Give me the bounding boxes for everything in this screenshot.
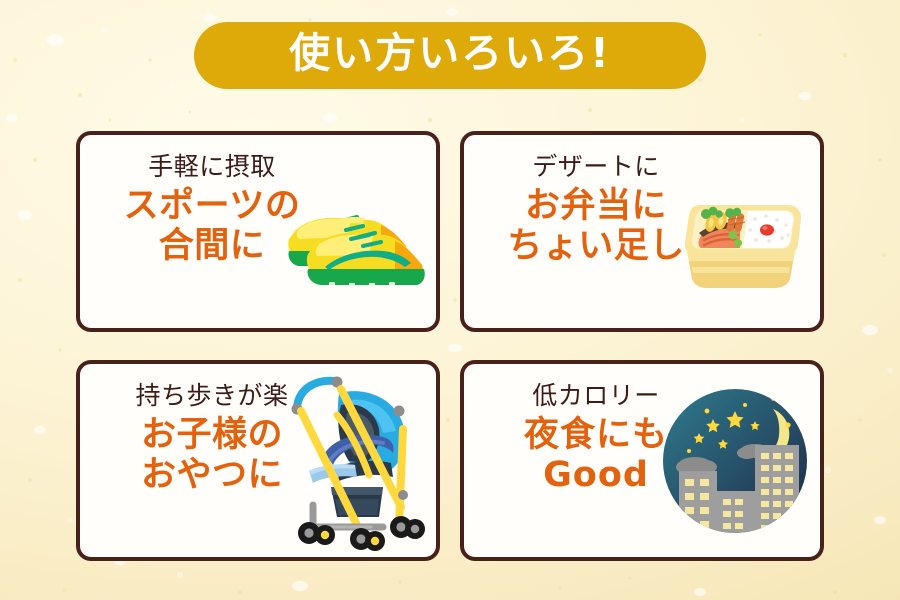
title-banner: 使い方いろいろ! [194, 22, 706, 89]
card-illustration [278, 135, 428, 328]
benefit-card-night: 低カロリー 夜食にも Good [460, 360, 824, 561]
card-illustration [274, 364, 434, 557]
page-title: 使い方いろいろ! [289, 33, 611, 74]
bento-box-icon [670, 183, 812, 295]
benefit-card-kids: 持ち歩きが楽 お子様の おやつに [76, 360, 440, 561]
benefit-card-sports: 手軽に摂取 スポーツの 合間に [76, 131, 440, 332]
benefit-card-grid: 手軽に摂取 スポーツの 合間に [76, 131, 824, 561]
stroller-icon [279, 375, 429, 547]
sneakers-icon [277, 187, 429, 295]
night-city-icon [661, 387, 809, 535]
card-illustration [660, 364, 810, 557]
benefit-card-bento: デザートに お弁当に ちょい足し [460, 131, 824, 332]
poster-canvas: 使い方いろいろ! 手軽に摂取 スポーツの 合間に [0, 0, 900, 600]
card-illustration [666, 135, 816, 328]
title-banner-wrapper: 使い方いろいろ! [0, 22, 900, 89]
